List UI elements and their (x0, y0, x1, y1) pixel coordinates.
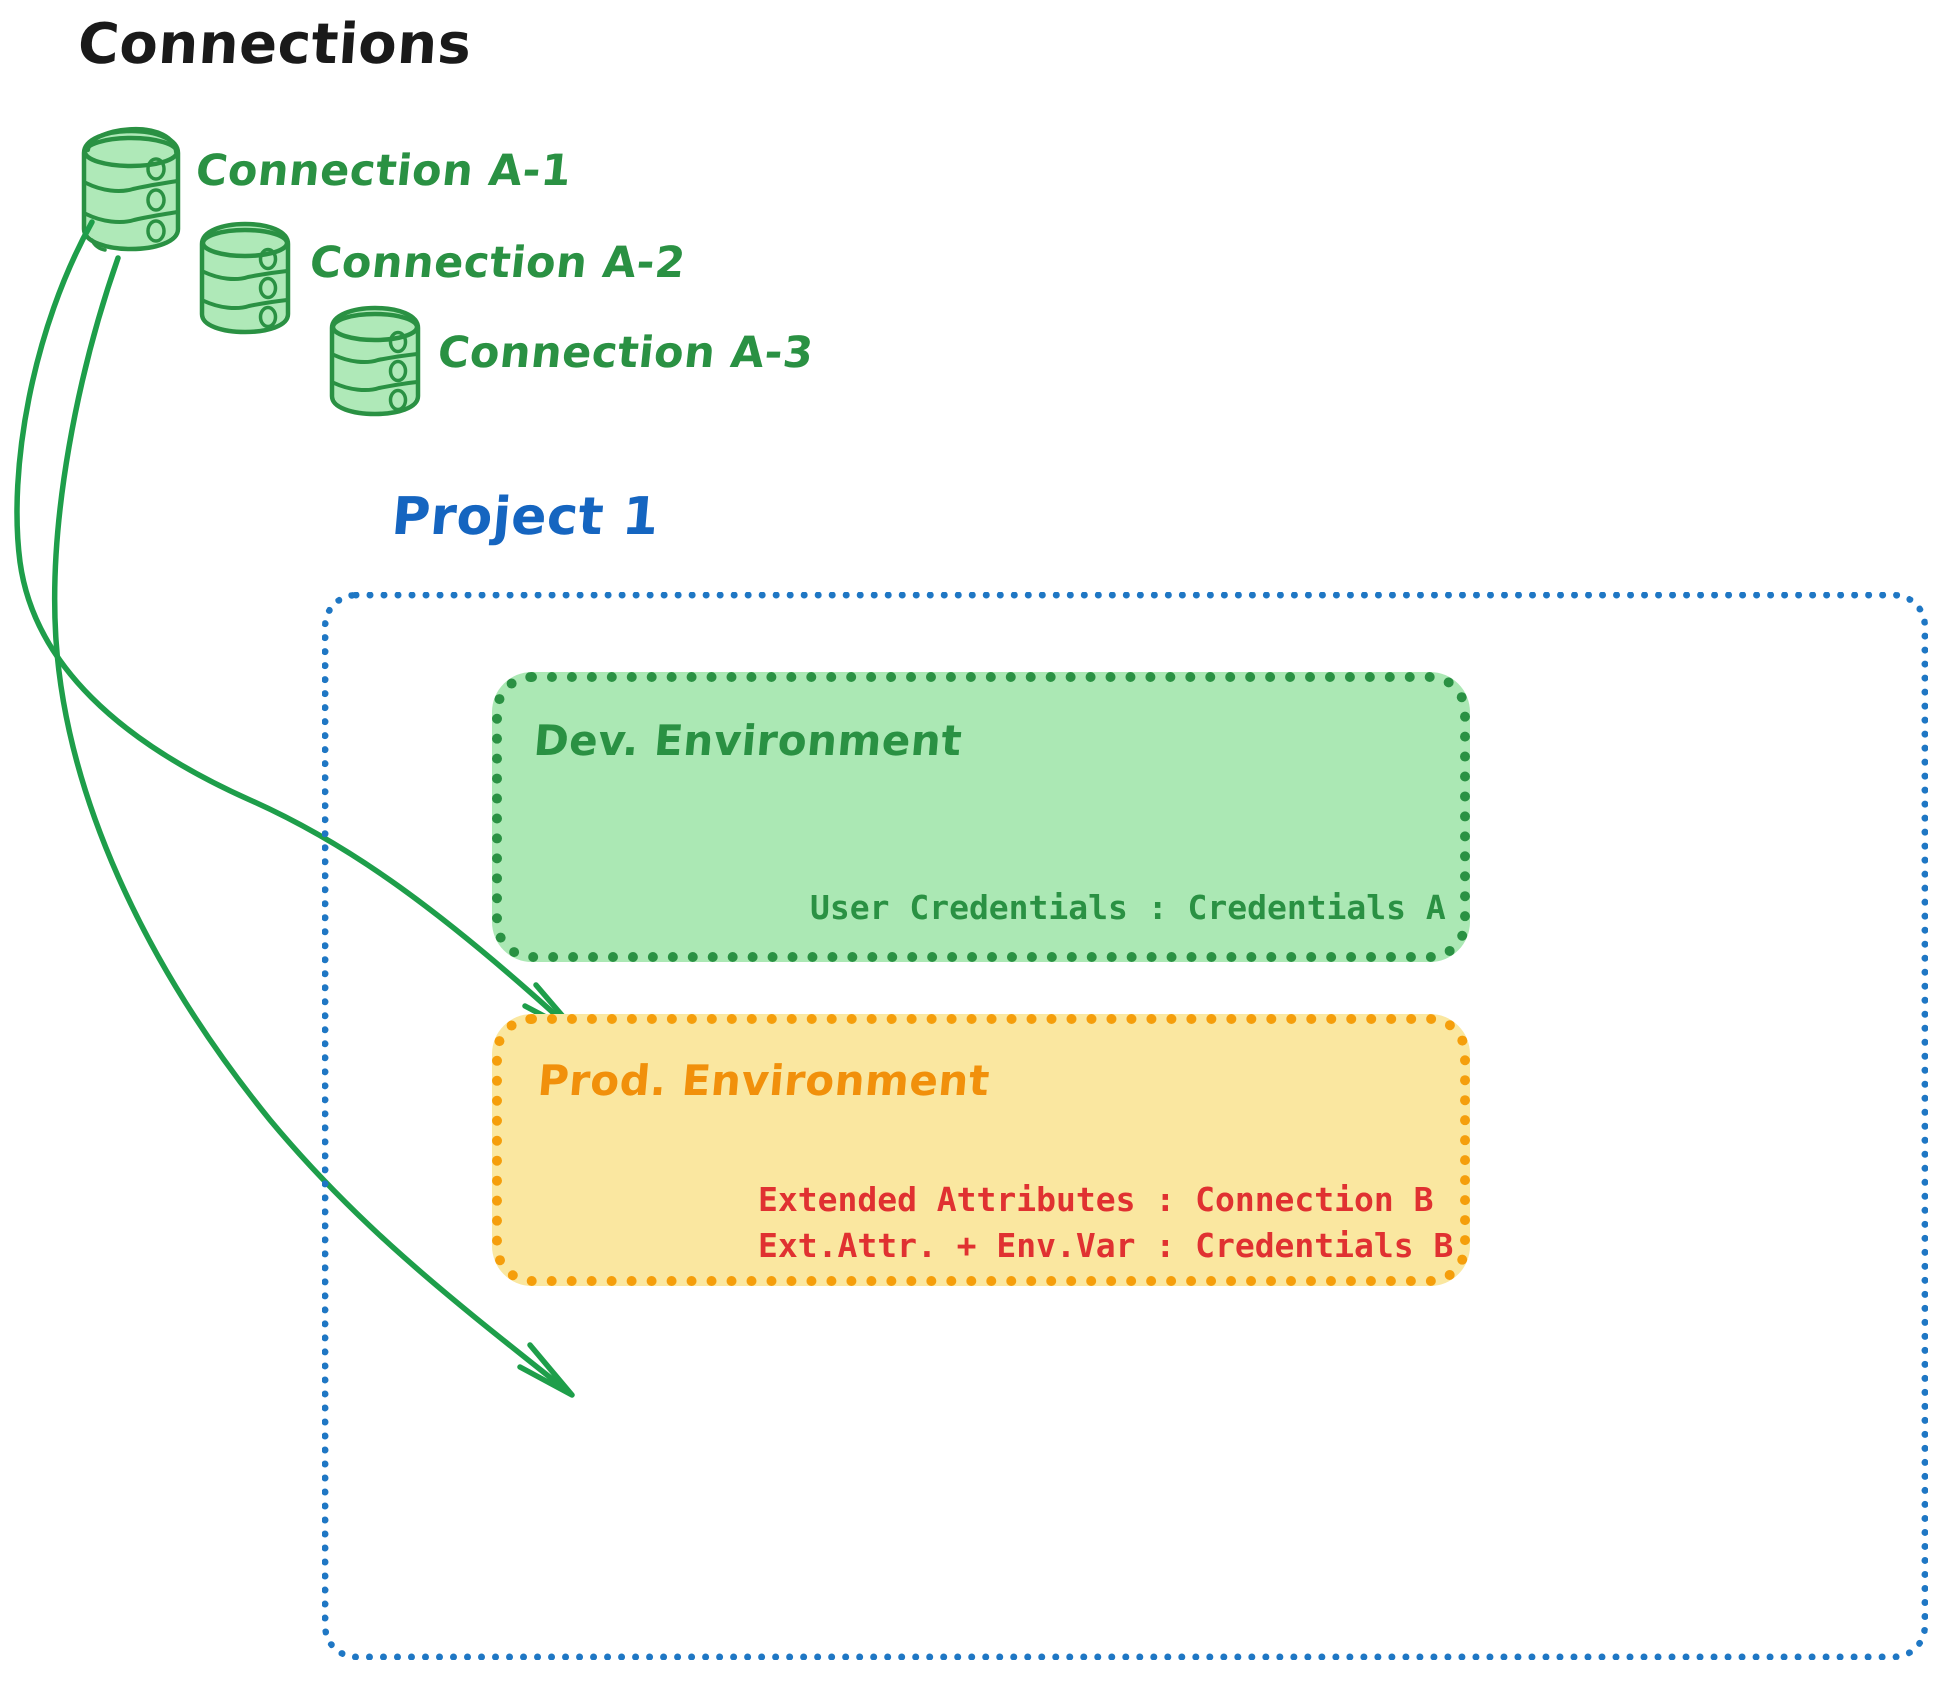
dev-environment-detail: User Credentials : Credentials A (810, 888, 1446, 927)
page-title: Connections (76, 12, 474, 77)
prod-environment-title: Prod. Environment (536, 1056, 992, 1105)
database-icon-connection-a1[interactable] (78, 125, 176, 240)
diagram-canvas: Connections Connection A-1 Connection A-… (0, 0, 1938, 1691)
project-title: Project 1 (389, 487, 661, 547)
prod-environment-detail-1: Extended Attributes : Connection B (758, 1180, 1434, 1219)
connection-label-a1: Connection A-1 (193, 146, 574, 196)
connection-label-a3: Connection A-3 (435, 328, 816, 378)
database-icon-connection-a2[interactable] (198, 218, 290, 328)
dev-environment-title: Dev. Environment (532, 716, 964, 765)
prod-environment-detail-2: Ext.Attr. + Env.Var : Credentials B (758, 1226, 1453, 1265)
connection-label-a2: Connection A-2 (307, 238, 688, 288)
database-icon-connection-a3[interactable] (328, 303, 420, 411)
